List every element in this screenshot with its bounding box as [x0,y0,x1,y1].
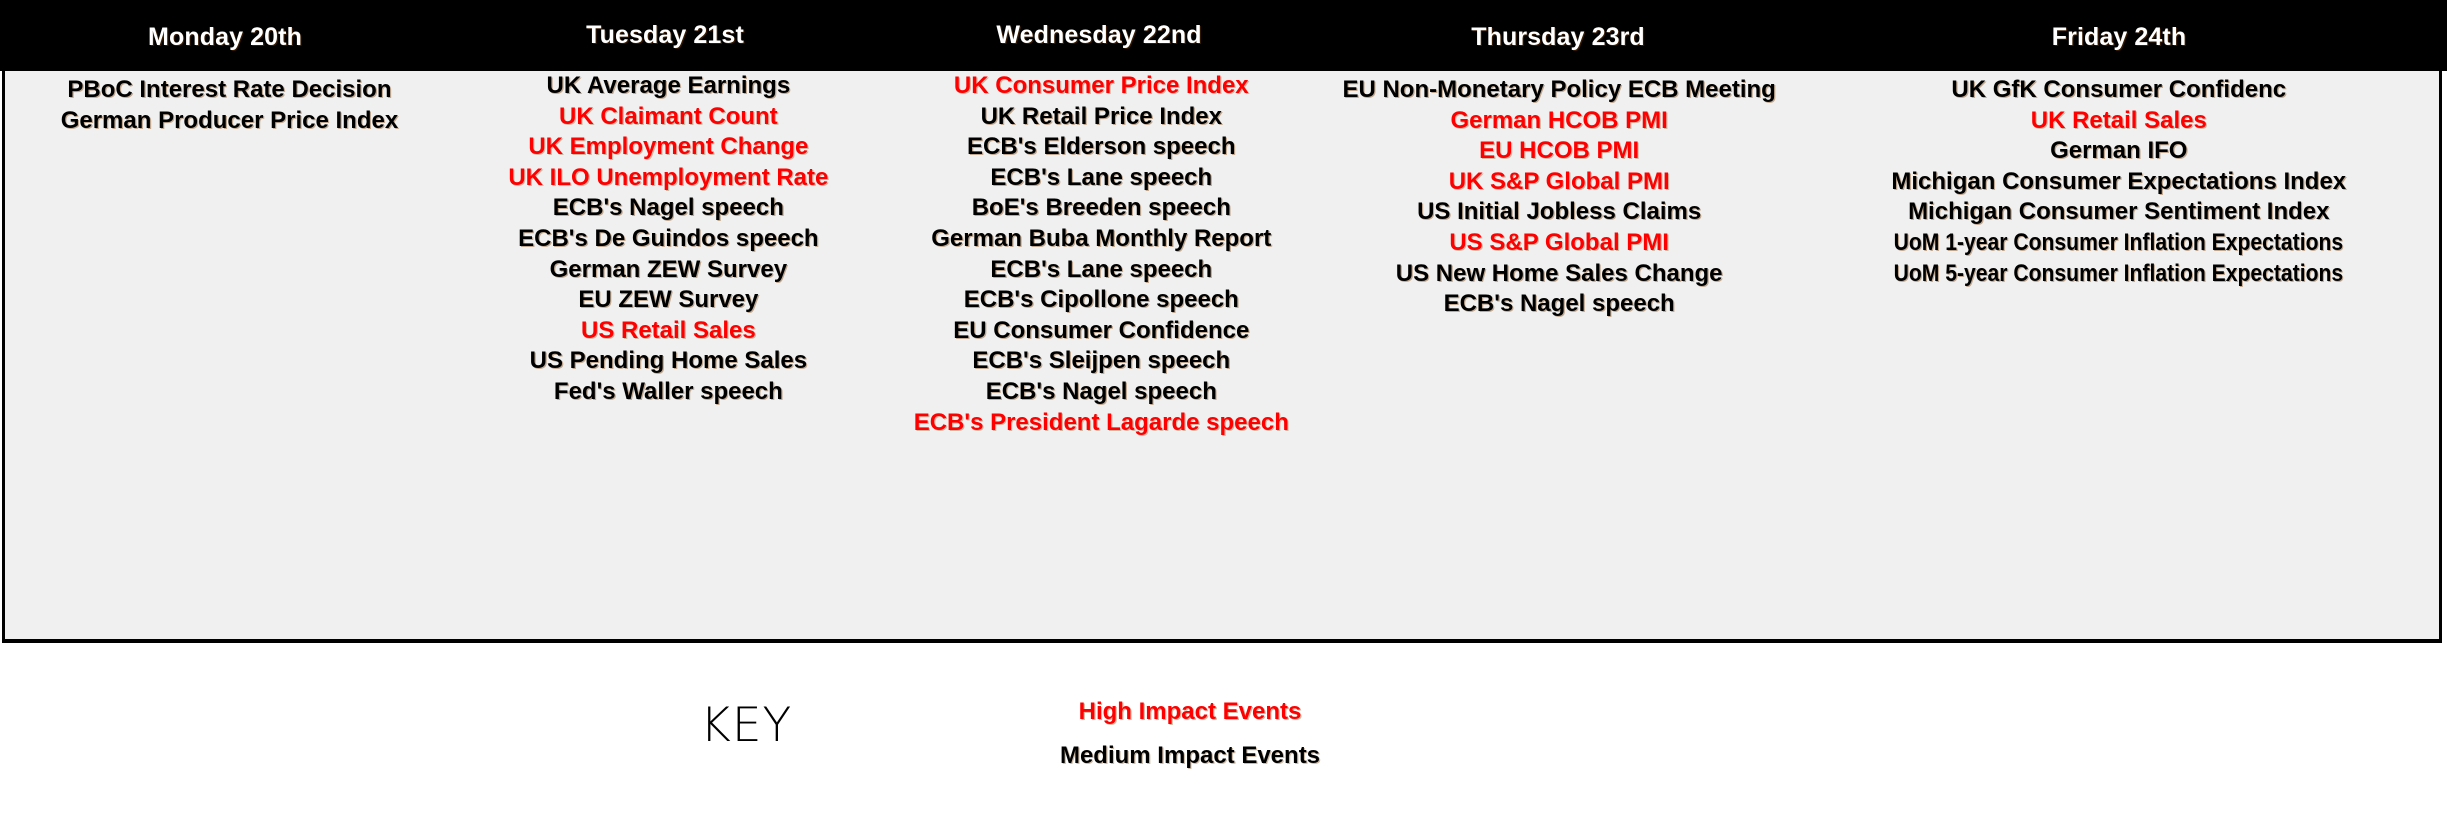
calendar-event: UK GfK Consumer Confidenc [1951,75,2286,106]
day-header-label: Friday 24th [2052,23,2186,52]
calendar-event: UK S&P Global PMI [1449,167,1670,198]
calendar-event: ECB's Nagel speech [553,193,784,224]
day-header-monday: Monday 20th [0,0,450,73]
calendar-event: UK Claimant Count [559,102,778,133]
legend-entries: High Impact Events Medium Impact Events [930,690,1450,778]
calendar-event: PBoC Interest Rate Decision [67,75,391,106]
calendar-event: ECB's Nagel speech [1444,289,1675,320]
calendar-event: ECB's Sleijpen speech [972,346,1230,377]
calendar-event: BoE's Breeden speech [972,193,1231,224]
calendar-event: Michigan Consumer Sentiment Index [1908,197,2329,228]
calendar-event: ECB's Lane speech [990,163,1212,194]
calendar-header-row: Monday 20th Tuesday 21st Wednesday 22nd … [0,0,2447,71]
calendar-event: US Initial Jobless Claims [1417,197,1701,228]
calendar-event: ECB's Nagel speech [986,377,1217,408]
calendar-event: Fed's Waller speech [554,377,783,408]
calendar-event: UK Retail Price Index [981,102,1222,133]
day-header-label: Thursday 23rd [1471,23,1645,52]
day-header-label: Monday 20th [148,23,302,52]
economic-calendar: Monday 20th Tuesday 21st Wednesday 22nd … [0,0,2447,821]
day-column-monday: PBoC Interest Rate DecisionGerman Produc… [5,71,454,136]
calendar-event: EU ZEW Survey [578,285,758,316]
calendar-event: US S&P Global PMI [1449,228,1669,259]
calendar-event: German HCOB PMI [1450,106,1667,137]
legend-entry-high-impact: High Impact Events [930,690,1450,734]
calendar-event: US New Home Sales Change [1396,259,1723,290]
legend: KEY High Impact Events Medium Impact Eve… [0,690,2447,800]
calendar-event: UoM 5-year Consumer Inflation Expectatio… [1894,259,2343,290]
day-header-tuesday: Tuesday 21st [450,0,880,71]
calendar-event: US Pending Home Sales [530,346,807,377]
calendar-event: ECB's Lane speech [990,255,1212,286]
day-header-thursday: Thursday 23rd [1318,0,1798,73]
calendar-event: UK Average Earnings [547,71,791,102]
calendar-event: UoM 1-year Consumer Inflation Expectatio… [1894,228,2343,259]
legend-entry-medium-impact: Medium Impact Events [930,734,1450,778]
day-header-label: Tuesday 21st [586,21,744,50]
day-header-friday: Friday 24th [1798,0,2440,73]
calendar-event: ECB's Elderson speech [967,132,1235,163]
calendar-event: German Buba Monthly Report [931,224,1271,255]
calendar-body: PBoC Interest Rate DecisionGerman Produc… [2,71,2442,643]
legend-title: KEY [700,698,792,753]
calendar-event: EU Non-Monetary Policy ECB Meeting [1342,75,1775,106]
calendar-event: EU Consumer Confidence [953,316,1249,347]
day-column-friday: UK GfK Consumer ConfidencUK Retail Sales… [1799,71,2439,289]
calendar-event: EU HCOB PMI [1479,136,1639,167]
calendar-event: UK Consumer Price Index [954,71,1249,102]
calendar-event: UK ILO Unemployment Rate [508,163,828,194]
calendar-event: German IFO [2050,136,2187,167]
calendar-event: German ZEW Survey [550,255,787,286]
calendar-event: UK Retail Sales [2031,106,2207,137]
calendar-event: ECB's Cipollone speech [964,285,1239,316]
calendar-event: US Retail Sales [581,316,756,347]
calendar-event: Michigan Consumer Expectations Index [1891,167,2346,198]
calendar-event: UK Employment Change [528,132,808,163]
day-header-wednesday: Wednesday 22nd [880,0,1318,71]
day-header-label: Wednesday 22nd [996,21,1201,50]
day-column-tuesday: UK Average EarningsUK Claimant CountUK E… [454,71,883,408]
day-column-thursday: EU Non-Monetary Policy ECB MeetingGerman… [1320,71,1799,320]
calendar-event: ECB's President Lagarde speech [914,408,1289,439]
day-column-wednesday: UK Consumer Price IndexUK Retail Price I… [883,71,1320,438]
calendar-event: German Producer Price Index [61,106,398,137]
calendar-event: ECB's De Guindos speech [518,224,818,255]
